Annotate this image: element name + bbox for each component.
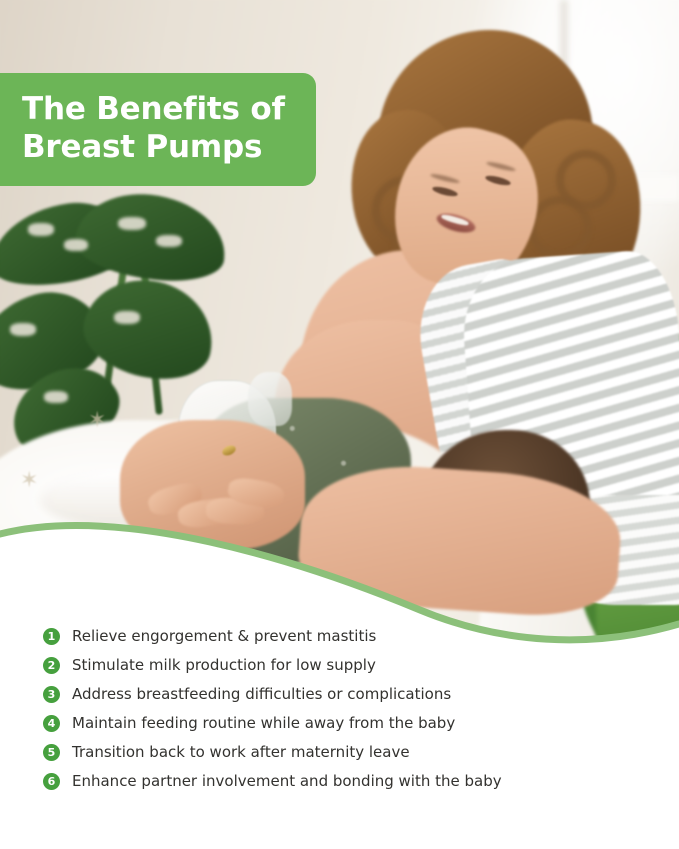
list-item: 2 Stimulate milk production for low supp… — [43, 651, 643, 680]
benefit-text-6: Enhance partner involvement and bonding … — [72, 772, 502, 791]
benefit-text-4: Maintain feeding routine while away from… — [72, 714, 455, 733]
benefit-number-badge-2: 2 — [43, 657, 60, 674]
benefit-text-3: Address breastfeeding difficulties or co… — [72, 685, 451, 704]
benefit-number-badge-1: 1 — [43, 628, 60, 645]
benefits-list: 1 Relieve engorgement & prevent mastitis… — [43, 622, 643, 796]
blanket-star-icon: ✶ — [88, 410, 106, 432]
list-item: 4 Maintain feeding routine while away fr… — [43, 709, 643, 738]
benefit-number-badge-5: 5 — [43, 744, 60, 761]
hair-curl — [556, 150, 616, 210]
benefit-text-5: Transition back to work after maternity … — [72, 743, 410, 762]
benefit-number-badge-6: 6 — [43, 773, 60, 790]
page-title: The Benefits of Breast Pumps — [22, 90, 298, 166]
benefit-number-badge-4: 4 — [43, 715, 60, 732]
blanket-star-icon: ✶ — [36, 588, 54, 610]
title-banner: The Benefits of Breast Pumps — [0, 73, 316, 186]
blanket-star-icon: ✶ — [20, 470, 38, 492]
list-item: 5 Transition back to work after maternit… — [43, 738, 643, 767]
list-item: 6 Enhance partner involvement and bondin… — [43, 767, 643, 796]
blanket-star-icon: ✶ — [196, 590, 214, 612]
pump-flange — [248, 372, 292, 426]
infographic-poster: ✶ ✶ ✶ ✶ ✶ ✶ ✶ The Benefits of Breast Pum… — [0, 0, 679, 849]
list-item: 3 Address breastfeeding difficulties or … — [43, 680, 643, 709]
blanket-star-icon: ✶ — [102, 538, 120, 560]
benefit-text-2: Stimulate milk production for low supply — [72, 656, 376, 675]
benefit-text-1: Relieve engorgement & prevent mastitis — [72, 627, 376, 646]
benefit-number-badge-3: 3 — [43, 686, 60, 703]
list-item: 1 Relieve engorgement & prevent mastitis — [43, 622, 643, 651]
